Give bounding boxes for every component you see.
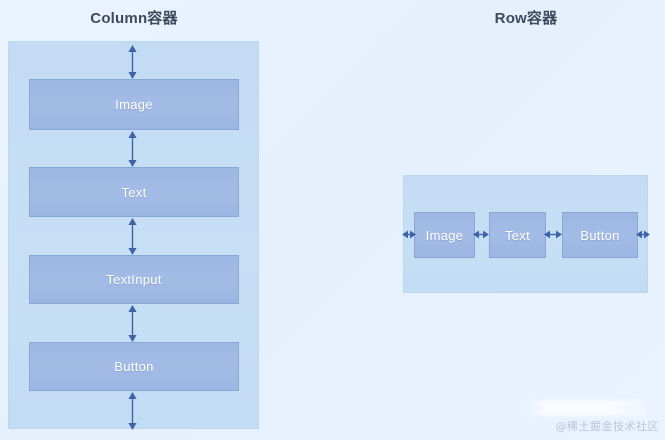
column-child-textinput: TextInput	[29, 255, 239, 304]
column-child-image: Image	[29, 79, 239, 130]
row-child-button: Button	[562, 212, 638, 258]
vertical-double-arrow-icon	[126, 218, 139, 255]
row-child-text: Text	[489, 212, 546, 258]
horizontal-double-arrow-icon	[473, 228, 489, 241]
vertical-double-arrow-icon	[126, 131, 139, 167]
horizontal-double-arrow-icon	[402, 228, 416, 241]
column-child-button: Button	[29, 342, 239, 391]
vertical-double-arrow-icon	[126, 392, 139, 430]
column-panel-title: Column容器	[0, 7, 268, 28]
watermark-blur-overlay	[525, 400, 647, 416]
row-child-image: Image	[414, 212, 475, 258]
column-child-text: Text	[29, 167, 239, 217]
watermark-text: @稀土掘金技术社区	[556, 418, 660, 434]
vertical-double-arrow-icon	[126, 45, 139, 79]
horizontal-double-arrow-icon	[544, 228, 562, 241]
diagram-canvas: Column容器 Row容器 Image Text TextInput Butt…	[0, 0, 665, 440]
row-panel-title: Row容器	[403, 7, 649, 28]
horizontal-double-arrow-icon	[636, 228, 650, 241]
vertical-double-arrow-icon	[126, 305, 139, 342]
